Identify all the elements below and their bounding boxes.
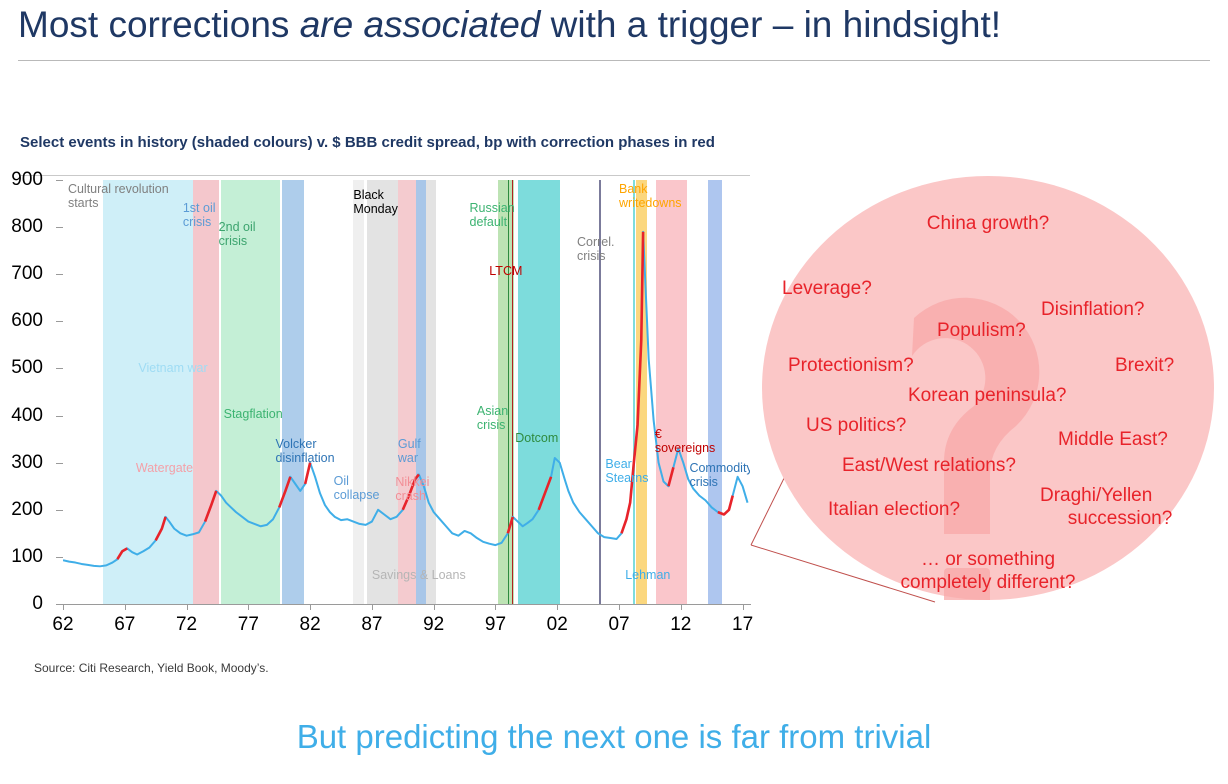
event-label-line: Oil xyxy=(334,474,380,488)
y-axis-tick-label: 900 xyxy=(0,170,43,189)
event-label-line: Bear xyxy=(605,457,648,471)
x-axis-tick-label: 92 xyxy=(409,614,459,636)
event-label: BlackMonday xyxy=(353,188,397,216)
x-axis-line xyxy=(63,604,751,605)
event-label-line: Savings & Loans xyxy=(372,568,466,582)
y-axis-tick-mark xyxy=(56,274,63,275)
event-label-line: crisis xyxy=(219,234,256,248)
event-label-line: Gulf xyxy=(398,437,421,451)
bubble-item-other-line1: … or something xyxy=(848,548,1128,571)
x-axis-tick-label: 82 xyxy=(285,614,335,636)
event-label-line: Dotcom xyxy=(515,431,558,445)
x-axis-tick-label: 07 xyxy=(594,614,644,636)
y-axis-tick-mark xyxy=(56,180,63,181)
event-label-line: crisis xyxy=(183,215,216,229)
spread-line xyxy=(63,232,748,566)
y-axis-tick-label: 0 xyxy=(0,594,43,613)
y-axis-tick-label: 400 xyxy=(0,406,43,425)
bubble-item-us-politics: US politics? xyxy=(806,414,906,437)
event-label: €sovereigns xyxy=(655,427,715,455)
correction-phase-segment xyxy=(117,548,127,559)
event-label: 1st oilcrisis xyxy=(183,201,216,229)
x-axis-tick-mark xyxy=(187,604,188,610)
event-label: Volckerdisinflation xyxy=(276,437,335,465)
y-axis-tick-mark xyxy=(56,557,63,558)
title-divider xyxy=(18,60,1210,61)
bubble-item-italian-election: Italian election? xyxy=(828,498,960,521)
event-label-line: Asian xyxy=(477,404,508,418)
event-label-line: Monday xyxy=(353,202,397,216)
x-axis-tick-mark xyxy=(372,604,373,610)
event-label: Savings & Loans xyxy=(372,568,466,582)
bubble-item-korean-peninsula: Korean peninsula? xyxy=(908,384,1066,407)
page-title-part1: Most corrections xyxy=(18,4,300,45)
event-label-line: Lehman xyxy=(625,568,670,582)
event-label-line: Black xyxy=(353,188,397,202)
bubble-item-brexit: Brexit? xyxy=(1115,354,1174,377)
correction-phase-segment xyxy=(668,467,673,486)
correction-phase-segment xyxy=(279,477,290,508)
event-label-line: LTCM xyxy=(489,264,522,278)
event-label: Nikkeicrash xyxy=(395,475,429,503)
x-axis-tick-label: 12 xyxy=(656,614,706,636)
event-label-line: writedowns xyxy=(619,196,682,210)
event-label: Oilcollapse xyxy=(334,474,380,502)
event-label: Gulfwar xyxy=(398,437,421,465)
x-axis-tick-label: 72 xyxy=(162,614,212,636)
event-label-line: Vietnam war xyxy=(138,361,207,375)
x-axis-tick-mark xyxy=(125,604,126,610)
event-label: Cultural revolutionstarts xyxy=(68,182,169,210)
y-axis-tick-label: 300 xyxy=(0,453,43,472)
y-axis-tick-label: 600 xyxy=(0,311,43,330)
event-label-line: disinflation xyxy=(276,451,335,465)
risk-question-bubble: China growth? Leverage? Disinflation? Po… xyxy=(762,176,1214,600)
event-label-line: Bank xyxy=(619,182,682,196)
source-note: Source: Citi Research, Yield Book, Moody… xyxy=(34,661,269,675)
x-axis-tick-label: 77 xyxy=(223,614,273,636)
event-label: BearStearns xyxy=(605,457,648,485)
event-label-line: 1st oil xyxy=(183,201,216,215)
event-label-line: € xyxy=(655,427,715,441)
event-label-line: collapse xyxy=(334,488,380,502)
x-axis-tick-mark xyxy=(681,604,682,610)
y-axis-tick-label: 200 xyxy=(0,500,43,519)
event-label-line: crash xyxy=(395,489,429,503)
event-label-line: war xyxy=(398,451,421,465)
credit-spread-chart: 9008007006005004003002001000 62677277828… xyxy=(0,166,790,636)
page-title-emphasis: are associated xyxy=(300,4,541,45)
y-axis-tick-label: 500 xyxy=(0,358,43,377)
correction-phase-segment xyxy=(718,496,733,515)
x-axis-tick-mark xyxy=(248,604,249,610)
event-label-line: 2nd oil xyxy=(219,220,256,234)
y-axis-tick-mark xyxy=(56,416,63,417)
event-label: Watergate xyxy=(136,461,193,475)
event-label: Correl.crisis xyxy=(577,235,615,263)
bubble-item-leverage: Leverage? xyxy=(782,277,872,300)
bubble-item-middle-east: Middle East? xyxy=(1058,428,1168,451)
correction-phase-segment xyxy=(156,517,166,541)
y-axis-tick-mark xyxy=(56,510,63,511)
event-label-line: Stearns xyxy=(605,471,648,485)
event-label: LTCM xyxy=(489,264,522,278)
event-label-line: starts xyxy=(68,196,169,210)
event-label-line: default xyxy=(470,215,515,229)
correction-phase-segment xyxy=(305,463,310,484)
x-axis-tick-label: 87 xyxy=(347,614,397,636)
page-title-part2: with a trigger – in hindsight! xyxy=(540,4,1001,45)
x-axis-tick-mark xyxy=(63,604,64,610)
x-axis-tick-label: 67 xyxy=(100,614,150,636)
bubble-item-china-growth: China growth? xyxy=(848,212,1128,235)
y-axis-tick-mark xyxy=(56,463,63,464)
event-label: Stagflation xyxy=(224,407,283,421)
x-axis-tick-mark xyxy=(495,604,496,610)
event-label: Dotcom xyxy=(515,431,558,445)
event-label-line: Volcker xyxy=(276,437,335,451)
bubble-item-draghi-yellen-line2: succession? xyxy=(1040,507,1200,530)
y-axis-tick-label: 100 xyxy=(0,547,43,566)
y-axis-tick-label: 700 xyxy=(0,264,43,283)
bubble-item-protectionism: Protectionism? xyxy=(788,354,914,377)
event-label-line: Cultural revolution xyxy=(68,182,169,196)
event-label-line: Watergate xyxy=(136,461,193,475)
x-axis-tick-mark xyxy=(434,604,435,610)
event-label-line: Correl. xyxy=(577,235,615,249)
event-label-line: crisis xyxy=(477,418,508,432)
event-label: Asiancrisis xyxy=(477,404,508,432)
x-axis-tick-mark xyxy=(310,604,311,610)
event-label-line: sovereigns xyxy=(655,441,715,455)
x-axis-tick-label: 62 xyxy=(38,614,88,636)
chart-subtitle: Select events in history (shaded colours… xyxy=(20,134,715,151)
y-axis-tick-label: 800 xyxy=(0,217,43,236)
correction-phase-segment xyxy=(508,517,513,533)
event-label: Russiandefault xyxy=(470,201,515,229)
spread-series-svg xyxy=(63,180,750,604)
bubble-item-disinflation: Disinflation? xyxy=(1041,298,1145,321)
correction-phase-segment xyxy=(539,477,551,510)
bubble-item-other-line2: completely different? xyxy=(848,571,1128,594)
x-axis-tick-label: 97 xyxy=(470,614,520,636)
plot-area: Cultural revolutionstartsVietnam war1st … xyxy=(63,180,750,604)
y-axis-tick-mark xyxy=(56,227,63,228)
bubble-item-east-west-relations: East/West relations? xyxy=(842,454,1016,477)
footer-caption: But predicting the next one is far from … xyxy=(0,718,1228,756)
event-label: Bankwritedowns xyxy=(619,182,682,210)
correction-phase-segment xyxy=(205,491,216,522)
event-label: 2nd oilcrisis xyxy=(219,220,256,248)
event-label: Vietnam war xyxy=(138,361,207,375)
bubble-item-populism: Populism? xyxy=(937,319,1026,342)
x-axis-tick-mark xyxy=(619,604,620,610)
correction-phase-segment xyxy=(622,232,644,534)
event-label-line: crisis xyxy=(577,249,615,263)
y-axis-tick-mark xyxy=(56,604,63,605)
x-axis-tick-mark xyxy=(557,604,558,610)
event-label-line: Russian xyxy=(470,201,515,215)
event-label: Lehman xyxy=(625,568,670,582)
bubble-item-draghi-yellen-line1: Draghi/Yellen xyxy=(1040,484,1152,507)
y-axis-tick-mark xyxy=(56,368,63,369)
page-title: Most corrections are associated with a t… xyxy=(18,2,1208,50)
event-label-line: Stagflation xyxy=(224,407,283,421)
x-axis-tick-label: 02 xyxy=(532,614,582,636)
y-axis-tick-mark xyxy=(56,321,63,322)
event-label-line: Nikkei xyxy=(395,475,429,489)
plot-top-border xyxy=(20,175,750,176)
